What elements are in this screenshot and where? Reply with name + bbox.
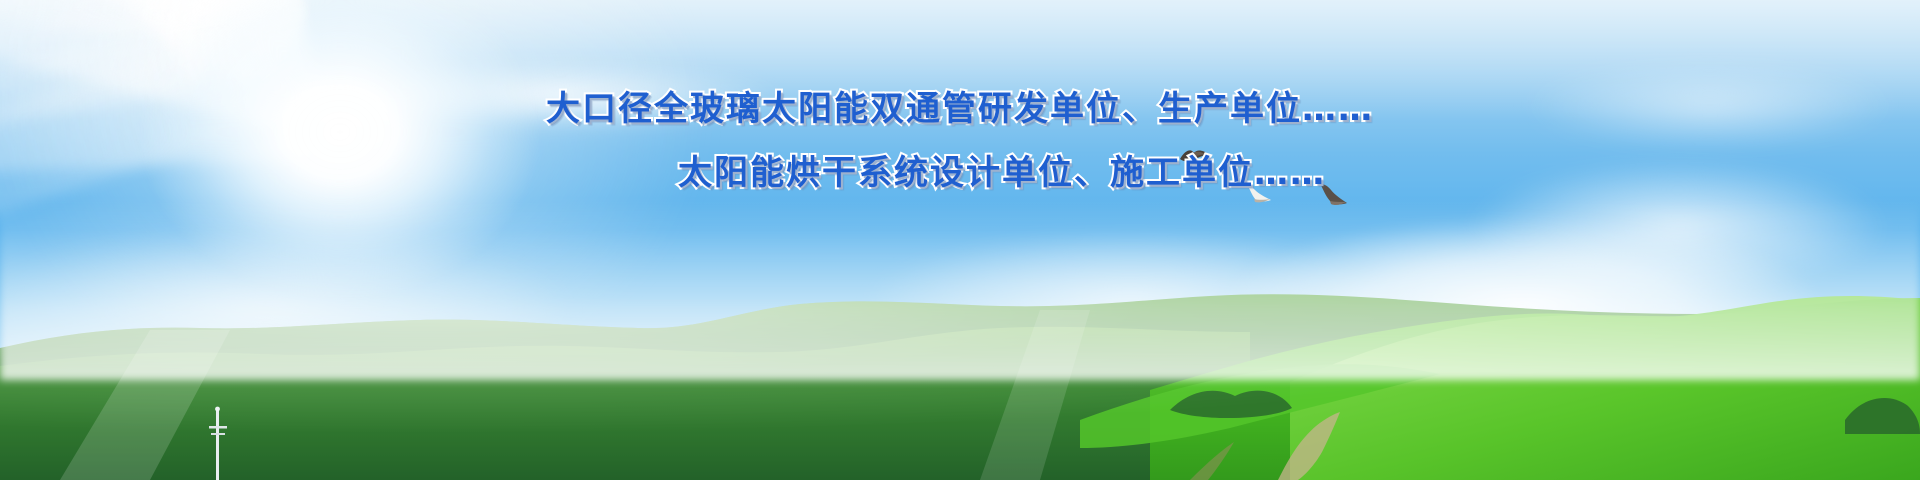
- flying-bird-1: [1178, 147, 1210, 173]
- utility-pole: [205, 400, 231, 480]
- horizon-haze: [0, 200, 1920, 380]
- hero-banner: 大口径全玻璃太阳能双通管研发单位、生产单位…… 太阳能烘干系统设计单位、施工单位…: [0, 0, 1920, 480]
